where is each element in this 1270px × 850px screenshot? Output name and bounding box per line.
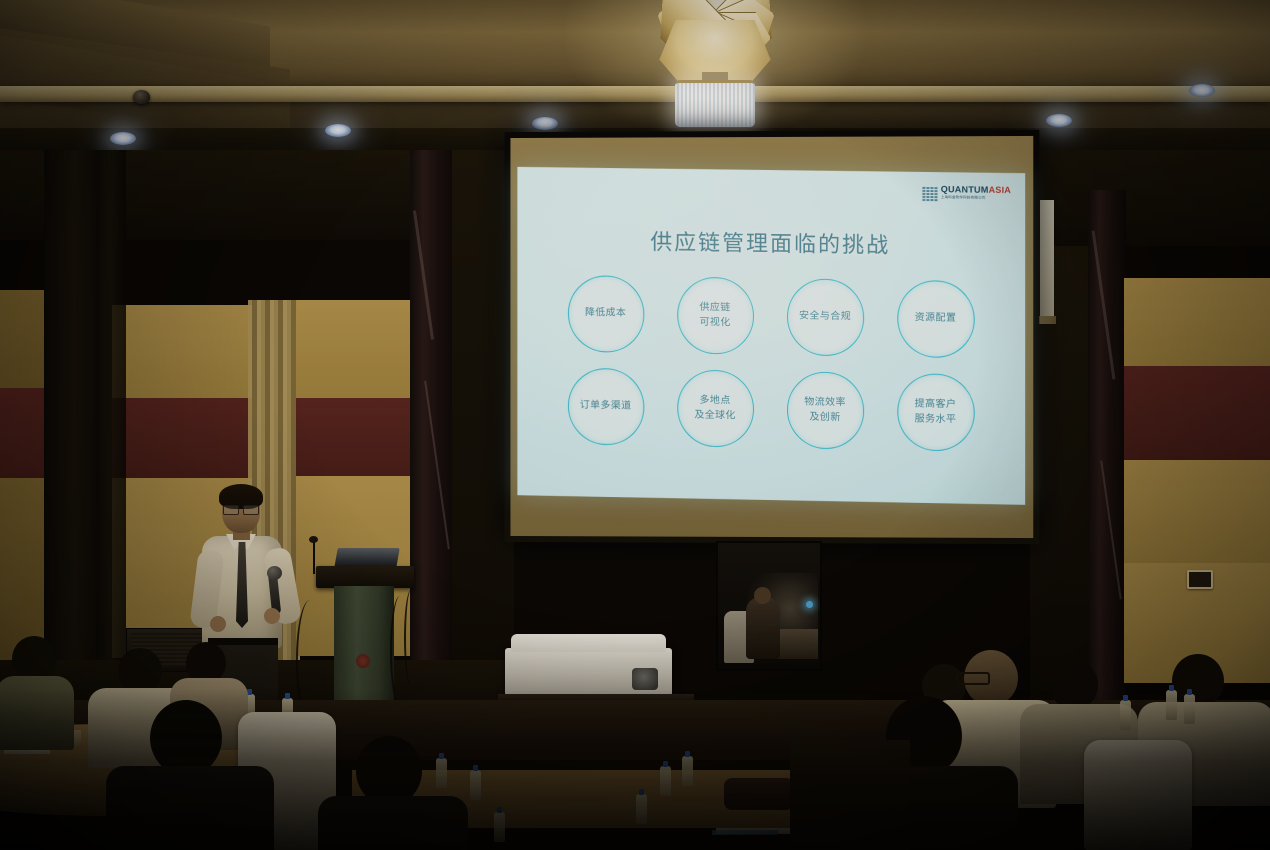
wall-panel-tan — [296, 300, 414, 408]
wall-column-dark — [96, 150, 126, 710]
chair-with-cover — [1084, 740, 1192, 850]
audience-body — [106, 766, 274, 850]
recessed-downlight — [325, 124, 351, 137]
audience-head — [1172, 654, 1224, 708]
document-accent — [712, 830, 778, 835]
logo-text: QUANTUMASIA 上海科爱软件科技有限公司 — [941, 185, 1011, 200]
company-logo: QUANTUMASIA 上海科爱软件科技有限公司 — [923, 185, 1011, 202]
audience-body — [0, 676, 74, 750]
logo-brand-secondary: ASIA — [989, 185, 1012, 195]
water-bottle — [470, 770, 481, 800]
av-control-booth — [716, 541, 822, 671]
bubble-line-2: 服务水平 — [915, 412, 957, 427]
wall-panel-tan — [112, 305, 252, 410]
bubble-line-2: 可视化 — [700, 315, 731, 330]
marble-vein — [1092, 231, 1116, 380]
logo-brand-primary: QUANTUM — [941, 184, 989, 195]
lectern-emblem — [356, 654, 370, 668]
bubble-supply-chain-visibility[interactable]: 供应链 可视化 — [677, 277, 754, 355]
bubble-line-1: 安全与合规 — [799, 310, 851, 325]
bubble-line-1: 提高客户 — [915, 397, 957, 412]
booth-operator — [746, 597, 780, 659]
bubble-customer-service-level[interactable]: 提高客户 服务水平 — [897, 373, 974, 452]
bubble-multi-site-globalization[interactable]: 多地点 及全球化 — [677, 369, 754, 447]
bubble-resource-allocation[interactable]: 资源配置 — [897, 280, 974, 358]
bubble-line-1: 资源配置 — [915, 311, 957, 326]
bubble-cost-reduction[interactable]: 降低成本 — [567, 275, 643, 353]
bubble-line-1: 物流效率 — [804, 396, 846, 411]
chandelier-crystal-drum — [675, 80, 755, 127]
wall-panel-maroon — [1124, 366, 1270, 462]
audience-member-foreground — [120, 700, 250, 850]
recessed-downlight — [1046, 114, 1072, 127]
security-camera-icon — [133, 90, 150, 104]
water-bottle — [660, 766, 671, 796]
bubble-row-top: 降低成本 供应链 可视化 安全与合规 资源配置 — [517, 274, 1025, 359]
wall-panel-tan — [1124, 460, 1270, 565]
wall-light-strip — [1040, 200, 1054, 320]
logo-dot-grid-icon — [923, 187, 938, 201]
water-bottle — [1166, 690, 1177, 720]
recessed-downlight — [1189, 84, 1215, 97]
bubble-logistics-efficiency[interactable]: 物流效率 及创新 — [786, 371, 863, 449]
water-bottle — [1184, 694, 1195, 724]
handheld-microphone-head-icon — [267, 566, 282, 580]
water-bottle — [494, 812, 505, 842]
bubble-row-bottom: 订单多渠道 多地点 及全球化 物流效率 及创新 提高客户 服务水平 — [517, 367, 1025, 453]
bubble-omnichannel-orders[interactable]: 订单多渠道 — [567, 368, 643, 446]
audience-head — [1050, 660, 1098, 710]
projection-screen: QUANTUMASIA 上海科爱软件科技有限公司 供应链管理面临的挑战 降低成本… — [505, 130, 1040, 544]
projector-lens — [632, 668, 658, 690]
logo-subtitle: 上海科爱软件科技有限公司 — [941, 196, 1011, 201]
microphone-head-icon — [309, 536, 318, 543]
presenter-left-hand — [210, 616, 226, 632]
projector-top — [511, 634, 666, 652]
bubble-line-1: 订单多渠道 — [580, 399, 632, 414]
bubble-line-1: 降低成本 — [585, 306, 626, 321]
bubble-line-2: 及全球化 — [694, 408, 736, 423]
logo-wordmark: QUANTUMASIA — [941, 185, 1011, 195]
water-bottle — [636, 794, 647, 824]
conference-room-photo: QUANTUMASIA 上海科爱软件科技有限公司 供应链管理面临的挑战 降低成本… — [0, 0, 1270, 850]
marble-vein — [413, 210, 434, 339]
wall-upper-dark-band — [1030, 150, 1270, 246]
bubble-line-2: 及创新 — [809, 410, 840, 425]
wall-column-marble — [1088, 190, 1126, 710]
audience-head — [150, 700, 222, 776]
presenter-glasses-icon — [223, 505, 259, 513]
water-bottle — [1120, 700, 1131, 730]
recessed-downlight — [110, 132, 136, 145]
marble-vein — [424, 381, 450, 550]
audience-member — [0, 636, 70, 746]
bubble-line-1: 多地点 — [700, 394, 731, 409]
cable — [404, 590, 418, 686]
wall-panel-maroon — [112, 398, 252, 484]
wall-panel-tan — [1124, 278, 1270, 368]
booth-operator-head — [754, 587, 771, 604]
bubble-security-compliance[interactable]: 安全与合规 — [786, 278, 863, 356]
projector — [505, 634, 672, 698]
wall-switch-plate[interactable] — [1187, 570, 1213, 589]
lectern-top — [316, 566, 414, 588]
challenge-bubble-grid: 降低成本 供应链 可视化 安全与合规 资源配置 订单多渠道 — [517, 274, 1025, 468]
chair-back-dark — [790, 740, 910, 850]
wall-panel-maroon — [296, 398, 414, 482]
presenter-right-hand — [264, 608, 280, 624]
marble-vein — [1100, 461, 1121, 600]
bubble-line-1: 供应链 — [700, 301, 731, 316]
presentation-slide: QUANTUMASIA 上海科爱软件科技有限公司 供应链管理面临的挑战 降低成本… — [517, 167, 1025, 505]
water-bottle — [682, 756, 693, 786]
laptop-bag — [724, 778, 794, 810]
slide-title: 供应链管理面临的挑战 — [517, 223, 1025, 262]
audience-member-foreground — [330, 736, 450, 850]
audience-glasses-icon — [956, 672, 990, 685]
audience-body — [318, 796, 468, 850]
gooseneck-microphone-stand — [313, 540, 315, 574]
ceiling-chandelier — [480, 0, 950, 135]
presenter-laptop[interactable] — [334, 548, 400, 568]
booth-indicator-led — [806, 601, 813, 608]
